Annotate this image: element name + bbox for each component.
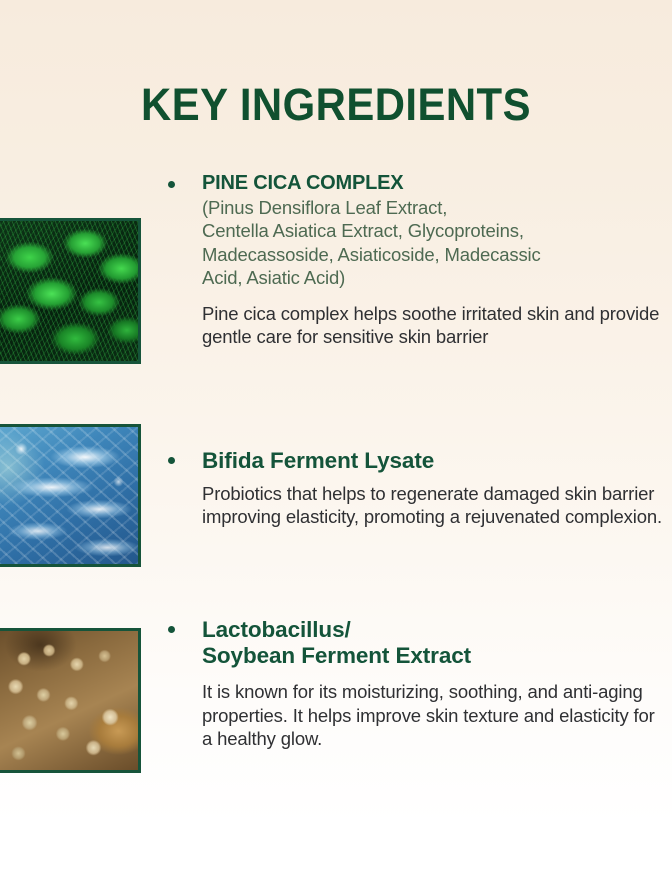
ingredient-heading-bifida: Bifida Ferment Lysate <box>202 448 668 474</box>
soybeans-icon <box>0 631 138 770</box>
page-title: KEY INGREDIENTS <box>24 82 649 127</box>
bullet-dot-icon <box>168 626 175 633</box>
pine-needles-icon <box>0 221 138 361</box>
ingredient-heading-lactobacillus: Lactobacillus/ Soybean Ferment Extract <box>202 617 668 668</box>
bullet-marker <box>168 172 202 188</box>
ingredient-block-lactobacillus: Lactobacillus/ Soybean Ferment Extract I… <box>168 617 668 750</box>
bullet-dot-icon <box>168 181 175 188</box>
ingredient-block-bifida: Bifida Ferment Lysate Probiotics that he… <box>168 448 668 528</box>
ingredient-description-lactobacillus: It is known for its moisturizing, soothi… <box>202 680 668 750</box>
key-ingredients-page: KEY INGREDIENTS PINE CICA COMPLEX (Pinus… <box>0 0 672 896</box>
bullet-dot-icon <box>168 457 175 464</box>
ingredient-description-bifida: Probiotics that helps to regenerate dama… <box>202 482 668 529</box>
dna-strands-icon <box>0 427 138 564</box>
ingredient-latin-names-pine-cica: (Pinus Densiflora Leaf Extract, Centella… <box>202 196 668 290</box>
ingredient-heading-pine-cica: PINE CICA COMPLEX <box>202 172 668 195</box>
ingredient-image-soybeans <box>0 628 141 773</box>
bullet-marker <box>168 448 202 464</box>
ingredient-image-pine-needles <box>0 218 141 364</box>
ingredient-description-pine-cica: Pine cica complex helps soothe irritated… <box>202 302 668 349</box>
ingredient-image-dna-strands <box>0 424 141 567</box>
ingredient-block-pine-cica: PINE CICA COMPLEX (Pinus Densiflora Leaf… <box>168 172 668 348</box>
bullet-marker <box>168 617 202 633</box>
